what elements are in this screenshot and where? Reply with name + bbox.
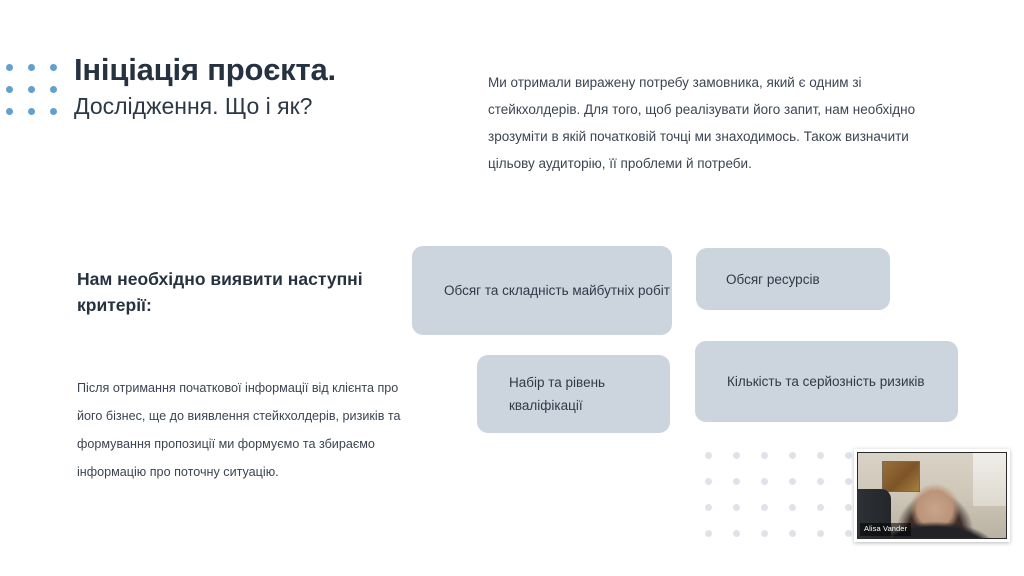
criteria-card-label: Набір та рівень кваліфікації bbox=[509, 371, 670, 417]
criteria-description-paragraph: Після отримання початкової інформації ві… bbox=[77, 374, 402, 486]
page-title: Ініціація проєкта. bbox=[74, 52, 474, 88]
criteria-heading: Нам необхідно виявити наступні критерії: bbox=[77, 266, 377, 318]
criteria-card-label: Обсяг ресурсів bbox=[726, 268, 820, 291]
background-window bbox=[973, 453, 1006, 506]
criteria-card-label: Обсяг та складність майбутніх робіт bbox=[444, 279, 670, 302]
criteria-card-risks: Кількість та серйозність ризиків bbox=[695, 341, 958, 422]
page-subtitle: Дослідження. Що і як? bbox=[74, 92, 474, 122]
criteria-card-label: Кількість та серйозність ризиків bbox=[727, 370, 925, 393]
criteria-card-skills: Набір та рівень кваліфікації bbox=[477, 355, 670, 433]
criteria-card-scope: Обсяг та складність майбутніх робіт bbox=[412, 246, 672, 335]
criteria-card-resources: Обсяг ресурсів bbox=[696, 248, 890, 310]
video-feed[interactable]: Alisa Vander bbox=[857, 452, 1007, 539]
decorative-blue-dot-grid bbox=[0, 64, 72, 130]
slide-title-block: Ініціація проєкта. Дослідження. Що і як? bbox=[74, 52, 474, 122]
decorative-gray-dot-grid bbox=[705, 452, 873, 556]
intro-paragraph: Ми отримали виражену потребу замовника, … bbox=[488, 69, 948, 177]
participant-video-tile[interactable]: Alisa Vander bbox=[854, 449, 1010, 542]
participant-name-label: Alisa Vander bbox=[860, 523, 911, 536]
background-picture-frame bbox=[883, 462, 919, 491]
